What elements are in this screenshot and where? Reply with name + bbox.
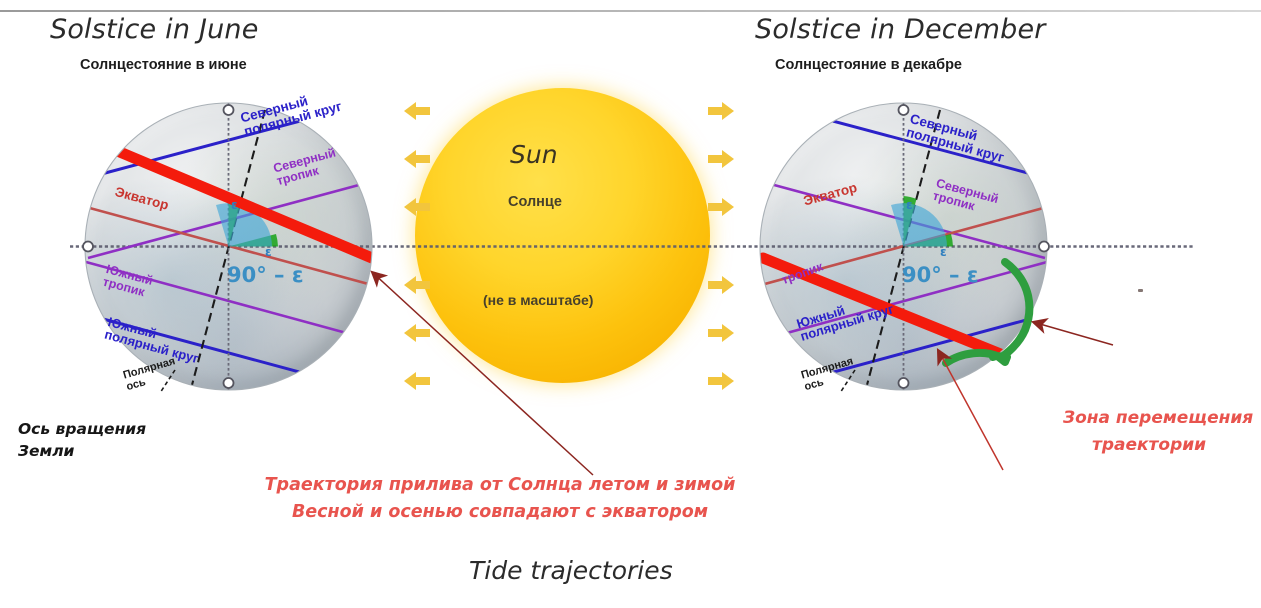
right-angle-epsilon-upper: ε <box>906 199 913 211</box>
right-south-pole-node <box>899 378 909 388</box>
sun-ray-right-1 <box>708 102 734 120</box>
sun-ray-left-5 <box>404 324 430 342</box>
right-angle-complement: 90° – ε <box>902 265 979 286</box>
right-angle-wedge-complement <box>891 203 947 246</box>
leader-right-tide <box>938 350 1003 470</box>
sun-ray-right-5 <box>708 324 734 342</box>
sun-ray-right-6 <box>708 372 734 390</box>
leader-zone-note <box>1033 322 1113 345</box>
sun-ray-left-1 <box>404 102 430 120</box>
left-angle-complement: 90° – ε <box>227 265 304 286</box>
right-angle-epsilon-lower: ε <box>940 246 947 258</box>
left-south-pole-node <box>224 378 234 388</box>
sun-ray-right-4 <box>708 276 734 294</box>
sun-ray-left-6 <box>404 372 430 390</box>
left-west-node <box>83 242 93 252</box>
right-north-pole-node <box>899 105 909 115</box>
sun-ray-left-2 <box>404 150 430 168</box>
left-angle-epsilon-lower: ε <box>265 246 272 258</box>
sun-ray-left-4 <box>404 276 430 294</box>
tide-caption-line-2: Весной и осенью совпадают с экватором <box>160 499 840 525</box>
earth-axis-note: Ось вращения Земли <box>18 418 146 462</box>
left-angle-epsilon-upper: ε <box>231 199 238 211</box>
zone-bracket-green <box>993 262 1029 362</box>
sun-ray-right-2 <box>708 150 734 168</box>
left-north-pole-node <box>224 105 234 115</box>
stray-dot-mark <box>1138 289 1143 292</box>
right-east-node <box>1039 242 1049 252</box>
leader-left-tide <box>372 272 593 475</box>
sun-ray-right-3 <box>708 198 734 216</box>
diagram-canvas: Solstice in June Солнцестояние в июне So… <box>0 0 1261 608</box>
footer-title-en: Tide trajectories <box>469 556 673 585</box>
zone-note-line-1: Зона перемещения <box>1063 405 1253 431</box>
zone-bracket-green-tail <box>946 353 999 363</box>
tide-caption-line-1: Траектория прилива от Солнца летом и зим… <box>160 472 840 498</box>
zone-note-line-2: траектории <box>1092 432 1206 458</box>
sun-ray-left-3 <box>404 198 430 216</box>
